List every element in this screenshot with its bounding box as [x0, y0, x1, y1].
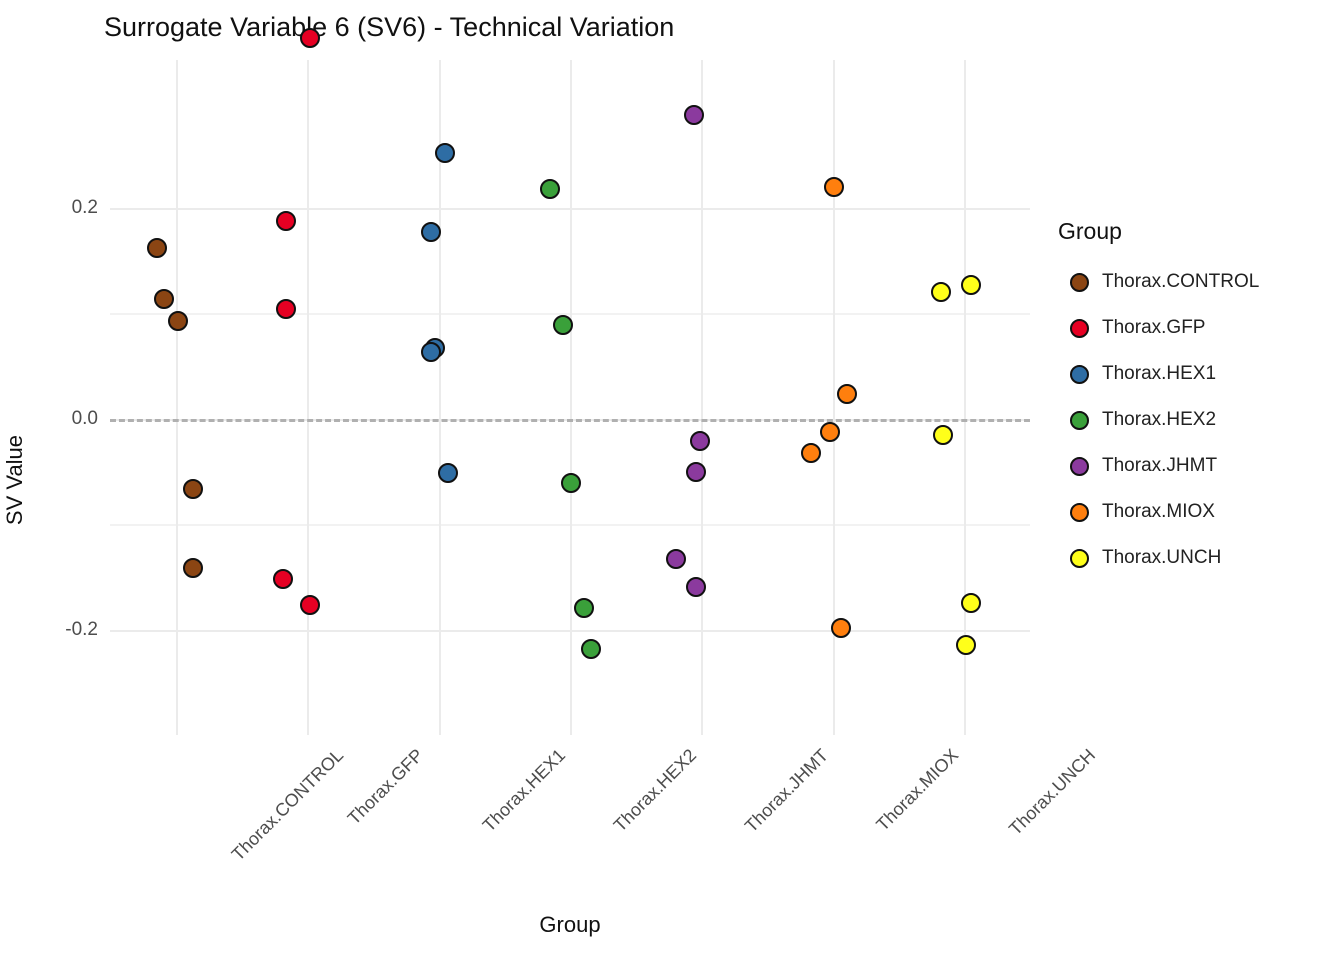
- scatter-point[interactable]: [276, 299, 296, 319]
- scatter-point[interactable]: [300, 595, 320, 615]
- legend-item[interactable]: Thorax.GFP: [1056, 305, 1336, 351]
- legend-item[interactable]: Thorax.UNCH: [1056, 535, 1336, 581]
- scatter-point[interactable]: [801, 443, 821, 463]
- legend: Group Thorax.CONTROLThorax.GFPThorax.HEX…: [1056, 218, 1336, 581]
- circle-icon: [1070, 273, 1089, 292]
- legend-item[interactable]: Thorax.HEX2: [1056, 397, 1336, 443]
- scatter-point[interactable]: [561, 473, 581, 493]
- scatter-point[interactable]: [931, 282, 951, 302]
- scatter-point[interactable]: [183, 558, 203, 578]
- circle-icon: [1070, 411, 1089, 430]
- zero-reference-line: [110, 419, 1030, 422]
- scatter-point[interactable]: [690, 431, 710, 451]
- scatter-point[interactable]: [421, 222, 441, 242]
- legend-item-label: Thorax.GFP: [1102, 317, 1205, 339]
- x-axis-tick-label: Thorax.MIOX: [872, 745, 963, 836]
- plot-panel: [110, 60, 1030, 735]
- legend-swatch-icon: [1056, 365, 1102, 384]
- circle-icon: [1070, 365, 1089, 384]
- legend-item[interactable]: Thorax.HEX1: [1056, 351, 1336, 397]
- page-title: Surrogate Variable 6 (SV6) - Technical V…: [104, 12, 674, 43]
- scatter-point[interactable]: [820, 422, 840, 442]
- chart-container: Surrogate Variable 6 (SV6) - Technical V…: [0, 0, 1344, 960]
- scatter-point[interactable]: [273, 569, 293, 589]
- legend-item[interactable]: Thorax.CONTROL: [1056, 259, 1336, 305]
- x-axis-title: Group: [110, 912, 1030, 938]
- scatter-point[interactable]: [824, 177, 844, 197]
- y-axis-tick-label: 0.0: [72, 408, 98, 430]
- legend-item-label: Thorax.JHMT: [1102, 455, 1217, 477]
- circle-icon: [1070, 457, 1089, 476]
- y-axis-tick-label: 0.2: [72, 197, 98, 219]
- scatter-point[interactable]: [438, 463, 458, 483]
- gridline-major-vertical: [964, 60, 966, 735]
- legend-item-label: Thorax.HEX1: [1102, 363, 1216, 385]
- x-axis-tick-label: Thorax.HEX2: [610, 745, 701, 836]
- legend-item-label: Thorax.MIOX: [1102, 501, 1215, 523]
- legend-items: Thorax.CONTROLThorax.GFPThorax.HEX1Thora…: [1056, 259, 1336, 581]
- scatter-point[interactable]: [933, 425, 953, 445]
- legend-title: Group: [1058, 218, 1336, 245]
- legend-swatch-icon: [1056, 457, 1102, 476]
- scatter-point[interactable]: [276, 211, 296, 231]
- scatter-point[interactable]: [831, 618, 851, 638]
- circle-icon: [1070, 549, 1089, 568]
- gridline-major-vertical: [570, 60, 572, 735]
- scatter-point[interactable]: [666, 549, 686, 569]
- scatter-point[interactable]: [961, 275, 981, 295]
- y-axis-title: SV Value: [0, 0, 32, 960]
- circle-icon: [1070, 319, 1089, 338]
- circle-icon: [1070, 503, 1089, 522]
- y-axis-tick-label: -0.2: [65, 619, 98, 641]
- legend-item-label: Thorax.HEX2: [1102, 409, 1216, 431]
- scatter-point[interactable]: [540, 179, 560, 199]
- x-axis-tick-label: Thorax.HEX1: [478, 745, 569, 836]
- legend-swatch-icon: [1056, 319, 1102, 338]
- scatter-point[interactable]: [574, 598, 594, 618]
- scatter-point[interactable]: [956, 635, 976, 655]
- legend-item-label: Thorax.CONTROL: [1102, 271, 1259, 293]
- scatter-point[interactable]: [581, 639, 601, 659]
- scatter-point[interactable]: [168, 311, 188, 331]
- scatter-point[interactable]: [183, 479, 203, 499]
- legend-swatch-icon: [1056, 411, 1102, 430]
- legend-item-label: Thorax.UNCH: [1102, 547, 1221, 569]
- gridline-major-vertical: [176, 60, 178, 735]
- scatter-point[interactable]: [421, 342, 441, 362]
- x-axis-tick-label: Thorax.CONTROL: [227, 745, 347, 865]
- scatter-point[interactable]: [147, 238, 167, 258]
- legend-swatch-icon: [1056, 273, 1102, 292]
- gridline-major-vertical: [307, 60, 309, 735]
- scatter-point[interactable]: [435, 143, 455, 163]
- legend-swatch-icon: [1056, 549, 1102, 568]
- x-axis-tick-labels: Thorax.CONTROLThorax.GFPThorax.HEX1Thora…: [110, 745, 1030, 895]
- scatter-point[interactable]: [154, 289, 174, 309]
- scatter-point[interactable]: [961, 593, 981, 613]
- scatter-point[interactable]: [300, 28, 320, 48]
- x-axis-tick-label: Thorax.JHMT: [741, 745, 833, 837]
- gridline-major-vertical: [701, 60, 703, 735]
- x-axis-tick-label: Thorax.GFP: [344, 745, 428, 829]
- legend-swatch-icon: [1056, 503, 1102, 522]
- scatter-point[interactable]: [684, 105, 704, 125]
- legend-item[interactable]: Thorax.JHMT: [1056, 443, 1336, 489]
- scatter-point[interactable]: [837, 384, 857, 404]
- x-axis-tick-label: Thorax.UNCH: [1005, 745, 1100, 840]
- legend-item[interactable]: Thorax.MIOX: [1056, 489, 1336, 535]
